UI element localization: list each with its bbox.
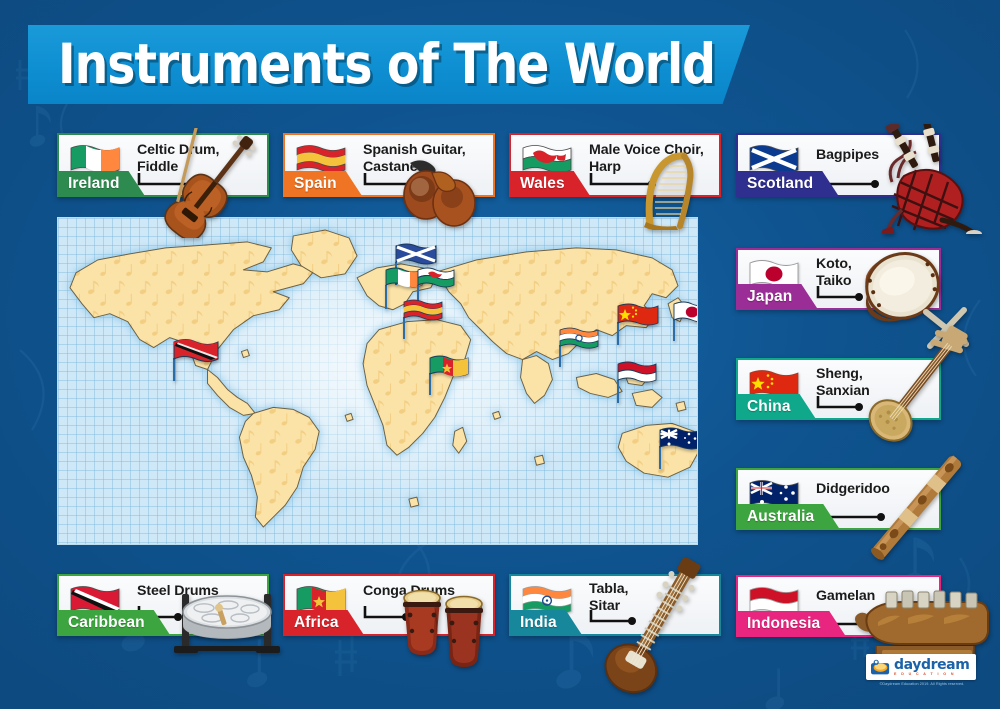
instrument-label-africa: Conga Drums [363,583,455,600]
instrument-label-japan: Koto, Taiko [816,256,852,289]
pointer-line-ireland [137,173,213,189]
map-pin-australia [656,426,698,470]
pointer-line-japan [816,286,876,302]
map-pin-trinidad [170,336,222,382]
page-title: Instruments of The World [58,27,643,101]
country-name-africa: Africa [294,614,339,632]
card-australia[interactable]: Didgeridoo Australia [736,468,941,530]
map-pin-japan [670,300,698,342]
map-pin-cameroon [426,354,472,396]
instrument-label-scotland: Bagpipes [816,147,879,164]
country-name-scotland: Scotland [747,175,813,193]
instrument-label-china: Sheng, Sanxian [816,366,870,399]
card-indonesia[interactable]: Gamelan Indonesia [736,575,941,637]
country-name-india: India [520,614,557,632]
pointer-line-wales [589,173,665,189]
country-tab-japan: Japan [736,284,818,310]
country-name-ireland: Ireland [68,175,120,193]
country-name-caribbean: Caribbean [68,614,145,632]
instrument-label-caribbean: Steel Drums [137,583,219,600]
logo-name: daydream [894,658,969,672]
pointer-line-china [816,396,876,412]
instrument-label-indonesia: Gamelan [816,588,875,605]
map-pin-indonesia [614,360,660,404]
card-scotland[interactable]: Bagpipes Scotland [736,133,941,197]
copyright-text: ©Daydream Education 2019. All Rights res… [866,682,978,686]
pointer-line-india [589,610,649,626]
country-tab-indonesia: Indonesia [736,611,846,637]
map-pin-spain [400,298,446,340]
logo-subtitle: E D U C A T I O N [894,673,969,677]
poster-root: Instruments of The World [0,0,1000,709]
country-tab-china: China [736,394,817,420]
country-tab-africa: Africa [283,610,365,636]
world-map-panel [57,217,698,545]
map-pin-india [556,326,602,368]
card-india[interactable]: Tabla, Sitar India [509,574,721,636]
logo-wordmark: daydream E D U C A T I O N [894,658,969,677]
country-tab-wales: Wales [509,171,591,197]
logo-mark-icon [870,658,891,677]
map-pin-china [614,302,662,346]
country-name-wales: Wales [520,175,565,193]
instrument-label-wales: Male Voice Choir, Harp [589,142,704,175]
country-tab-spain: Spain [283,171,363,197]
instrument-label-spain: Spanish Guitar, Castanets [363,142,466,175]
card-wales[interactable]: Male Voice Choir, Harp Wales [509,133,721,197]
card-spain[interactable]: Spanish Guitar, Castanets Spain [283,133,495,197]
daydream-education-logo: daydream E D U C A T I O N [866,654,976,680]
card-caribbean[interactable]: Steel Drums Caribbean [57,574,269,636]
card-ireland[interactable]: Celtic Drum, Fiddle Ireland [57,133,269,197]
country-name-japan: Japan [747,288,792,306]
card-japan[interactable]: Koto, Taiko Japan [736,248,941,310]
country-tab-ireland: Ireland [57,171,146,197]
pointer-line-spain [363,173,439,189]
instrument-label-australia: Didgeridoo [816,481,890,498]
card-china[interactable]: Sheng, Sanxian China [736,358,941,420]
card-africa[interactable]: Conga Drums Africa [283,574,495,636]
pointer-line-africa [363,606,423,622]
world-map-landmasses [58,218,697,545]
country-name-china: China [747,398,791,416]
country-tab-caribbean: Caribbean [57,610,171,636]
country-name-indonesia: Indonesia [747,615,820,633]
country-tab-scotland: Scotland [736,171,839,197]
country-name-spain: Spain [294,175,337,193]
instrument-label-ireland: Celtic Drum, Fiddle [137,142,219,175]
country-tab-australia: Australia [736,504,840,530]
country-name-australia: Australia [747,508,814,526]
